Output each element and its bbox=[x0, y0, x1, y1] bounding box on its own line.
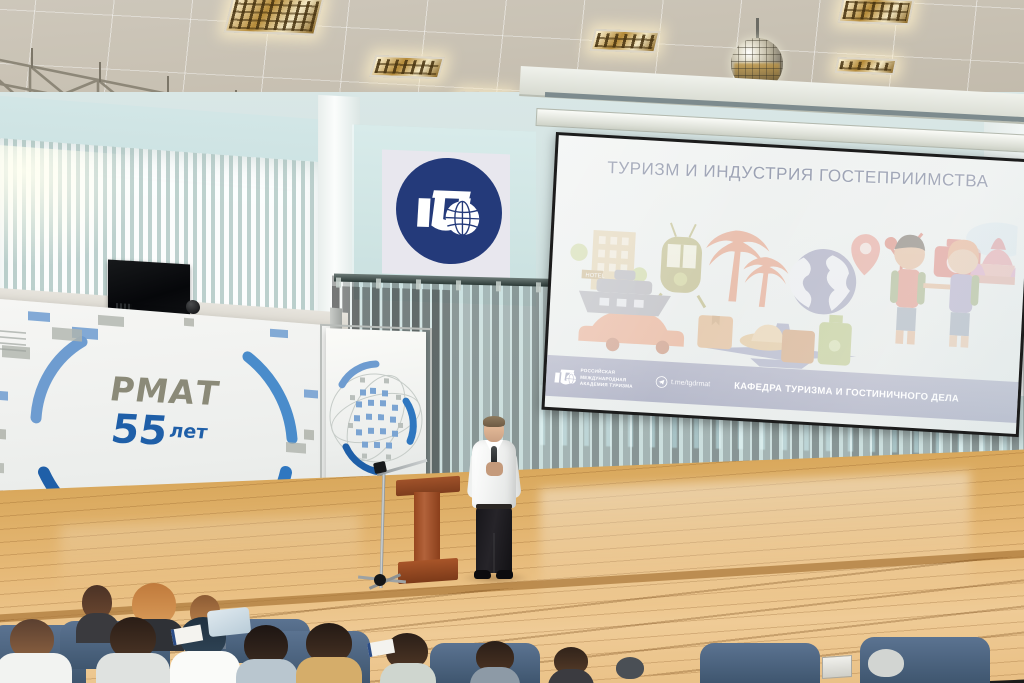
rmat-footer-emblem-icon bbox=[554, 366, 577, 387]
banner-anniversary: 55лет bbox=[111, 410, 302, 457]
palm-tree-icon bbox=[704, 229, 791, 309]
projection-screen: ТУРИЗМ И ИНДУСТРИЯ ГОСТЕПРИИМСТВА HOTEL bbox=[541, 132, 1024, 437]
ceiling-light-panel bbox=[835, 57, 898, 75]
audience-person bbox=[470, 641, 520, 683]
person-head bbox=[616, 657, 644, 679]
podium-column bbox=[414, 492, 440, 564]
presenter-belt bbox=[476, 504, 512, 509]
presentation-slide: ТУРИЗМ И ИНДУСТРИЯ ГОСТЕПРИИМСТВА HOTEL bbox=[545, 135, 1024, 434]
ceiling-light-panel bbox=[369, 55, 445, 79]
presenter-hair bbox=[483, 416, 505, 427]
audience-person bbox=[614, 657, 650, 683]
rmat-emblem-icon bbox=[396, 156, 502, 266]
person-torso bbox=[170, 651, 240, 683]
speaker-knob bbox=[186, 300, 200, 315]
footer-department: КАФЕДРА ТУРИЗМА И ГОСТИНИЧНОГО ДЕЛА bbox=[734, 381, 960, 405]
ceiling-light-panel bbox=[837, 0, 914, 25]
person-torso bbox=[380, 663, 436, 683]
audience bbox=[0, 563, 1024, 683]
presenter bbox=[466, 418, 522, 580]
banner-anniversary-word: лет bbox=[169, 420, 208, 444]
audience-person bbox=[548, 647, 594, 683]
audience-person bbox=[96, 617, 170, 683]
slide-artwork: HOTEL bbox=[557, 195, 1018, 384]
slide-title: ТУРИЗМ И ИНДУСТРИЯ ГОСТЕПРИИМСТВА bbox=[576, 157, 1020, 193]
ceiling-light-panel bbox=[590, 29, 661, 53]
person-torso bbox=[548, 669, 594, 683]
bag-icon bbox=[698, 315, 734, 350]
footer-academy-name: РОССИЙСКАЯ МЕЖДУНАРОДНАЯ АКАДЕМИЯ ТУРИЗМ… bbox=[580, 368, 634, 390]
conference-hall-photo: ТУРИЗМ И ИНДУСТРИЯ ГОСТЕПРИИМСТВА HOTEL bbox=[0, 0, 1024, 683]
audience-person bbox=[296, 623, 362, 683]
person-torso bbox=[96, 653, 170, 683]
audience-person bbox=[0, 619, 72, 683]
person-torso bbox=[470, 667, 520, 683]
telegram-handle: t.me/tgdrmat bbox=[671, 379, 711, 388]
person-head bbox=[868, 649, 904, 677]
map-pin-icon bbox=[850, 233, 881, 276]
audience-person bbox=[862, 649, 912, 683]
person-torso bbox=[0, 653, 72, 683]
auditorium-seat bbox=[700, 643, 820, 683]
handbag bbox=[207, 607, 251, 637]
tram-icon bbox=[654, 222, 710, 307]
window-glare bbox=[0, 144, 140, 275]
person-torso bbox=[296, 657, 362, 683]
floor-power-outlet bbox=[822, 655, 852, 679]
presenter-hands bbox=[486, 462, 503, 476]
tourist-girl-icon bbox=[943, 239, 981, 348]
footer-academy-logo: РОССИЙСКАЯ МЕЖДУНАРОДНАЯ АКАДЕМИЯ ТУРИЗМ… bbox=[554, 366, 634, 391]
banner-anniversary-number: 55 bbox=[111, 406, 168, 455]
telegram-icon bbox=[655, 375, 669, 389]
globe-icon bbox=[788, 247, 859, 316]
audience-person bbox=[236, 625, 298, 683]
ceiling-light-panel bbox=[224, 0, 325, 36]
banner-text-block: РМАТ 55лет bbox=[110, 369, 303, 457]
person-torso bbox=[236, 659, 298, 683]
footer-telegram: t.me/tgdrmat bbox=[655, 375, 711, 391]
